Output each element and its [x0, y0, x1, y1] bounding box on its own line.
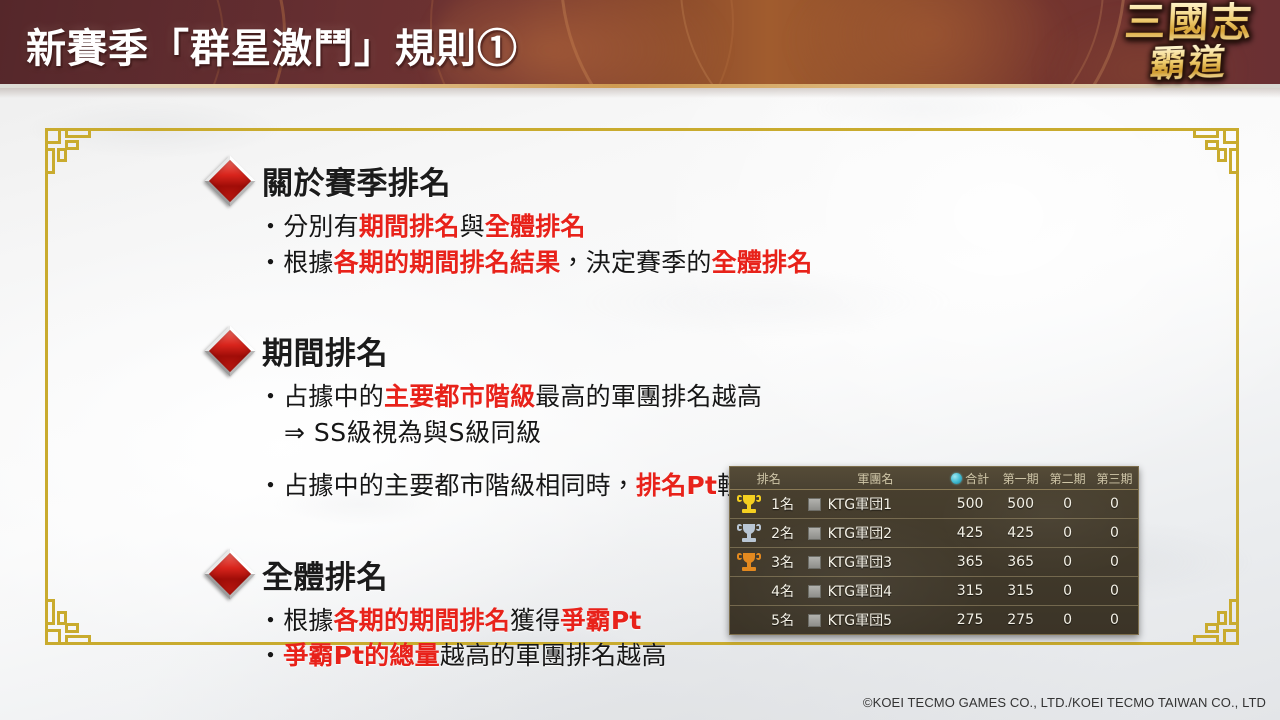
decorative-swirl — [560, 0, 1126, 88]
cell-period-2: 0 — [1044, 583, 1091, 599]
rank-label: 1名 — [762, 494, 794, 514]
cell-period-3: 0 — [1091, 612, 1138, 628]
cell-period-1: 315 — [997, 583, 1044, 599]
legion-emblem-icon — [808, 498, 821, 511]
section-bullet-list: ・分別有期間排名與全體排名 ・根據各期的期間排名結果，決定賽季的全體排名 — [212, 209, 1212, 280]
table-row: 5名 KTG軍団5 275 275 0 0 — [730, 606, 1138, 634]
column-header-total: 合計 — [943, 470, 997, 487]
cell-total: 500 — [943, 496, 997, 512]
bullet-part: ・占據中的主要都市階級相同時， — [258, 471, 636, 500]
bullet-part-highlight: 排名Pt — [636, 471, 717, 500]
team-name: KTG軍団5 — [828, 610, 892, 630]
cell-period-2: 0 — [1044, 554, 1091, 570]
bullet-line: ・爭霸Pt的總量越高的軍團排名越高 — [258, 638, 1212, 674]
cell-team: KTG軍団2 — [808, 523, 943, 543]
column-header-period-1: 第一期 — [997, 470, 1044, 487]
game-logo-subtitle: 霸道 — [1102, 42, 1275, 84]
section-title: 關於賽季排名 — [262, 158, 451, 203]
section-heading: 關於賽季排名 — [212, 158, 1212, 203]
bullet-part-highlight: 各期的期間排名結果 — [334, 248, 561, 277]
section-title: 期間排名 — [262, 328, 388, 373]
bullet-part-highlight: 主要都市階級 — [384, 382, 535, 411]
bullet-part-highlight: 爭霸Pt的總量 — [283, 641, 440, 670]
decorative-swirl — [680, 0, 1104, 88]
team-name: KTG軍団4 — [828, 581, 892, 601]
cell-rank: 2名 — [730, 523, 808, 543]
table-header-row: 排名 軍團名 合計 第一期 第二期 第三期 — [730, 467, 1138, 490]
legion-emblem-icon — [808, 585, 821, 598]
cell-period-2: 0 — [1044, 496, 1091, 512]
bullet-part: ・根據 — [258, 248, 334, 277]
cell-period-2: 0 — [1044, 612, 1091, 628]
trophy-icon — [740, 552, 758, 572]
cell-period-3: 0 — [1091, 525, 1138, 541]
coin-icon — [951, 473, 962, 484]
frame-edge-right — [1236, 128, 1239, 645]
cell-team: KTG軍団5 — [808, 610, 943, 630]
bullet-part: ，決定賽季的 — [560, 248, 711, 277]
cell-total: 275 — [943, 612, 997, 628]
bullet-part: 與 — [460, 212, 485, 241]
bullet-part: ・ — [258, 641, 283, 670]
game-logo: 三國志 霸道 — [1104, 2, 1274, 110]
table-row: 4名 KTG軍団4 315 315 0 0 — [730, 577, 1138, 606]
cell-team: KTG軍団4 — [808, 581, 943, 601]
cell-total: 425 — [943, 525, 997, 541]
team-name: KTG軍団3 — [828, 552, 892, 572]
bullet-part: 獲得 — [510, 606, 560, 635]
ranking-table: 排名 軍團名 合計 第一期 第二期 第三期 1名 KTG軍団1 500 500 … — [729, 466, 1139, 635]
cell-period-3: 0 — [1091, 583, 1138, 599]
cell-period-2: 0 — [1044, 525, 1091, 541]
bullet-part-highlight: 期間排名 — [359, 212, 460, 241]
cell-period-1: 275 — [997, 612, 1044, 628]
frame-corner-ornament-top-left — [43, 126, 105, 188]
frame-edge-top — [45, 128, 1239, 131]
legion-emblem-icon — [808, 614, 821, 627]
column-header-period-2: 第二期 — [1044, 470, 1091, 487]
bullet-line: ・占據中的主要都市階級最高的軍團排名越高 — [258, 379, 1212, 415]
cell-rank: 4名 — [730, 581, 808, 601]
rank-label: 3名 — [762, 552, 794, 572]
team-name: KTG軍団1 — [828, 494, 892, 514]
bullet-line-sub: ⇒ SS級視為與S級同級 — [258, 415, 1212, 451]
team-name: KTG軍団2 — [828, 523, 892, 543]
bullet-part: ・根據 — [258, 606, 334, 635]
cell-total: 365 — [943, 554, 997, 570]
frame-corner-ornament-bottom-left — [43, 585, 105, 647]
column-header-team: 軍團名 — [808, 470, 943, 487]
legion-emblem-icon — [808, 527, 821, 540]
cell-period-1: 365 — [997, 554, 1044, 570]
cell-period-3: 0 — [1091, 496, 1138, 512]
presentation-slide: 新賽季「群星激鬥」規則① 三國志 霸道 關於賽季排名 — [0, 0, 1280, 720]
bullet-part: 最高的軍團排名越高 — [535, 382, 762, 411]
trophy-icon — [740, 523, 758, 543]
diamond-bullet-icon — [205, 325, 256, 376]
rank-label: 4名 — [762, 581, 794, 601]
column-header-rank: 排名 — [730, 470, 808, 487]
cell-period-1: 425 — [997, 525, 1044, 541]
cell-rank: 5名 — [730, 610, 808, 630]
diamond-bullet-icon — [205, 155, 256, 206]
cell-total: 315 — [943, 583, 997, 599]
section-title: 全體排名 — [262, 552, 388, 597]
copyright-notice: ©KOEI TECMO GAMES CO., LTD./KOEI TECMO T… — [863, 695, 1266, 710]
section-season-ranking: 關於賽季排名 ・分別有期間排名與全體排名 ・根據各期的期間排名結果，決定賽季的全… — [212, 158, 1212, 280]
cell-period-1: 500 — [997, 496, 1044, 512]
decorative-texture — [790, 0, 1070, 88]
bullet-part-highlight: 全體排名 — [712, 248, 813, 277]
cell-team: KTG軍団3 — [808, 552, 943, 572]
header-dropshadow — [0, 88, 1280, 98]
section-heading: 期間排名 — [212, 328, 1212, 373]
table-row: 3名 KTG軍団3 365 365 0 0 — [730, 548, 1138, 577]
trophy-icon — [740, 494, 758, 514]
bullet-part: 越高的軍團排名越高 — [440, 641, 667, 670]
bullet-part-highlight: 爭霸Pt — [560, 606, 641, 635]
cell-team: KTG軍団1 — [808, 494, 943, 514]
bullet-line: ・根據各期的期間排名結果，決定賽季的全體排名 — [258, 245, 1212, 281]
cell-period-3: 0 — [1091, 554, 1138, 570]
trophy-icon-placeholder — [740, 581, 758, 601]
legion-emblem-icon — [808, 556, 821, 569]
rank-label: 5名 — [762, 610, 794, 630]
frame-edge-left — [45, 128, 48, 645]
bullet-part-highlight: 全體排名 — [485, 212, 586, 241]
rank-label: 2名 — [762, 523, 794, 543]
bullet-part: ・分別有 — [258, 212, 359, 241]
bullet-part-highlight: 各期的期間排名 — [334, 606, 510, 635]
cell-rank: 3名 — [730, 552, 808, 572]
trophy-icon-placeholder — [740, 610, 758, 630]
table-row: 1名 KTG軍団1 500 500 0 0 — [730, 490, 1138, 519]
bullet-part: ・占據中的 — [258, 382, 384, 411]
column-header-period-3: 第三期 — [1091, 470, 1138, 487]
bullet-part: ⇒ SS級視為與S級同級 — [284, 418, 542, 447]
bullet-line: ・分別有期間排名與全體排名 — [258, 209, 1212, 245]
page-title: 新賽季「群星激鬥」規則① — [26, 16, 518, 74]
game-logo-title: 三國志 — [1103, 2, 1275, 43]
cell-rank: 1名 — [730, 494, 808, 514]
diamond-bullet-icon — [205, 549, 256, 600]
column-header-total-label: 合計 — [965, 470, 989, 487]
table-row: 2名 KTG軍団2 425 425 0 0 — [730, 519, 1138, 548]
